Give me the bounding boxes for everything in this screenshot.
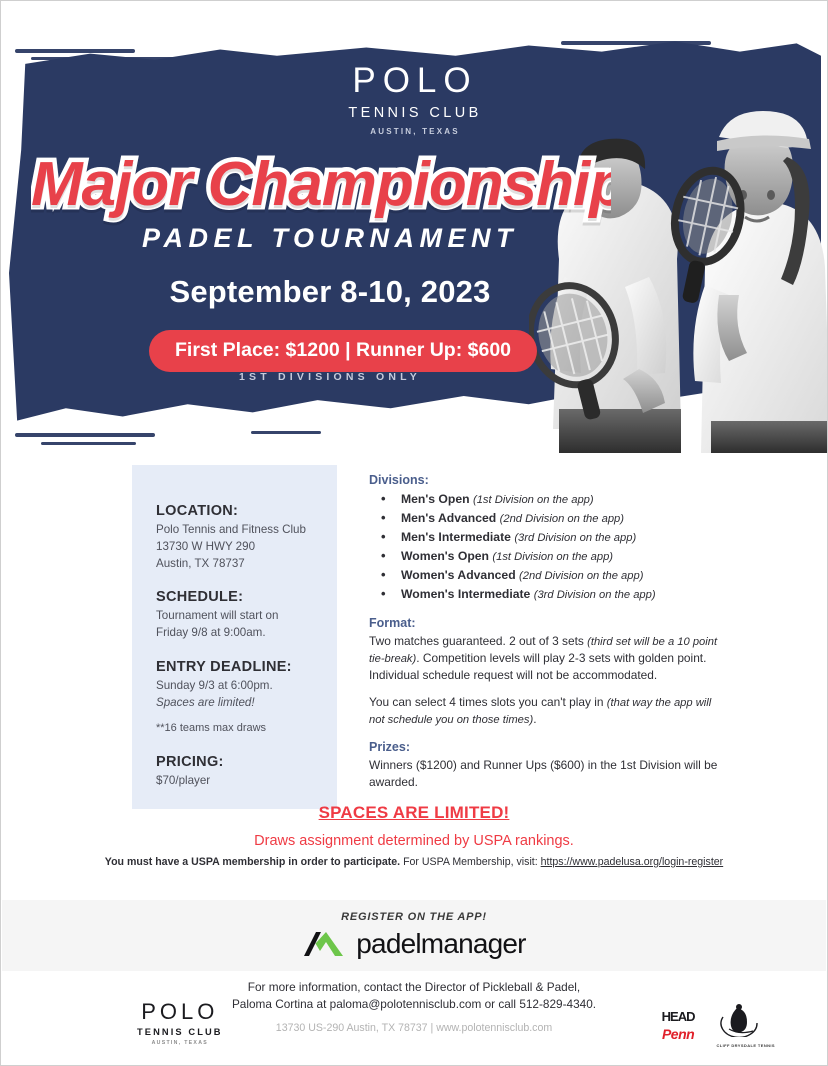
list-item: Men's Intermediate (3rd Division on the … — [369, 528, 719, 547]
format-section: Format: Two matches guaranteed. 2 out of… — [369, 616, 719, 728]
pricing-group: PRICING: $70/player — [156, 754, 315, 790]
pricing-line: $70/player — [156, 773, 315, 790]
register-prompt: REGISTER ON THE APP! — [341, 911, 487, 923]
footer-logo-city: AUSTIN, TEXAS — [137, 1040, 223, 1046]
hero-banner: POLO TENNIS CLUB AUSTIN, TEXAS Major Cha… — [1, 1, 828, 453]
hero-club-logo: POLO TENNIS CLUB AUSTIN, TEXAS — [1, 63, 828, 136]
division-name: Men's Intermediate — [401, 530, 511, 544]
format-p2-b: . — [533, 712, 536, 726]
event-date: September 8-10, 2023 — [1, 274, 828, 310]
division-name: Women's Advanced — [401, 568, 516, 582]
cliff-drysdale-mark-icon — [717, 1003, 763, 1037]
event-subtitle: PADEL TOURNAMENT — [1, 223, 828, 254]
spaces-limited-headline: SPACES ARE LIMITED! — [1, 803, 827, 823]
deadline-heading: ENTRY DEADLINE: — [156, 659, 315, 675]
format-p1-a: Two matches guaranteed. 2 out of 3 sets — [369, 634, 587, 648]
division-note: (1st Division on the app) — [473, 494, 594, 506]
divisions-heading: Divisions: — [369, 473, 719, 487]
flyer-page: POLO TENNIS CLUB AUSTIN, TEXAS Major Cha… — [0, 0, 828, 1066]
division-name: Men's Advanced — [401, 511, 496, 525]
prizes-text: Winners ($1200) and Runner Ups ($600) in… — [369, 757, 719, 791]
uspa-bold-text: You must have a USPA membership in order… — [105, 856, 400, 868]
division-note: (2nd Division on the app) — [500, 513, 624, 525]
padelmanager-wordmark: padelmanager — [356, 928, 525, 960]
details-column: Divisions: Men's Open (1st Division on t… — [369, 473, 719, 791]
schedule-group: SCHEDULE: Tournament will start on Frida… — [156, 589, 315, 642]
brush-streak-icon — [561, 41, 711, 45]
location-line-2: 13730 W HWY 290 — [156, 539, 315, 556]
info-box: LOCATION: Polo Tennis and Fitness Club 1… — [132, 465, 337, 809]
brush-streak-icon — [41, 442, 136, 445]
format-paragraph-2: You can select 4 times slots you can't p… — [369, 694, 719, 728]
divisions-list: Men's Open (1st Division on the app) Men… — [369, 490, 719, 604]
schedule-heading: SCHEDULE: — [156, 589, 315, 605]
sponsor-logos: HEAD Penn CLIFF DRYSDALE TENNIS — [662, 1003, 775, 1048]
location-heading: LOCATION: — [156, 503, 315, 519]
brush-streak-icon — [601, 53, 721, 56]
format-p2-a: You can select 4 times slots you can't p… — [369, 695, 607, 709]
spaces-limited-block: SPACES ARE LIMITED! Draws assignment det… — [1, 803, 827, 849]
location-group: LOCATION: Polo Tennis and Fitness Club 1… — [156, 503, 315, 572]
padelmanager-mark-icon — [302, 929, 346, 959]
head-wordmark: HEAD — [662, 1009, 695, 1024]
padelmanager-logo[interactable]: padelmanager — [302, 928, 525, 960]
division-name: Women's Open — [401, 549, 489, 563]
footer-club-logo: POLO TENNIS CLUB AUSTIN, TEXAS — [137, 1001, 223, 1046]
draws-assignment-note: Draws assignment determined by USPA rank… — [1, 833, 827, 849]
footer-logo-name: POLO — [137, 1001, 223, 1023]
cliff-drysdale-logo: CLIFF DRYSDALE TENNIS — [717, 1003, 775, 1048]
list-item: Men's Advanced (2nd Division on the app) — [369, 509, 719, 528]
uspa-rest-text: For USPA Membership, visit: — [400, 856, 541, 868]
prizes-section: Prizes: Winners ($1200) and Runner Ups (… — [369, 740, 719, 791]
format-heading: Format: — [369, 616, 719, 630]
list-item: Women's Intermediate (3rd Division on th… — [369, 585, 719, 604]
deadline-italic-note: Spaces are limited! — [156, 695, 315, 712]
club-logo-name: POLO — [1, 63, 828, 98]
list-item: Women's Open (1st Division on the app) — [369, 547, 719, 566]
location-line-3: Austin, TX 78737 — [156, 556, 315, 573]
contact-line-1: For more information, contact the Direct… — [1, 979, 827, 996]
list-item: Men's Open (1st Division on the app) — [369, 490, 719, 509]
division-note: (2nd Division on the app) — [519, 570, 643, 582]
division-note: (3rd Division on the app) — [514, 532, 636, 544]
location-line-1: Polo Tennis and Fitness Club — [156, 522, 315, 539]
pricing-heading: PRICING: — [156, 754, 315, 770]
division-note: (1st Division on the app) — [492, 551, 613, 563]
cliff-drysdale-caption: CLIFF DRYSDALE TENNIS — [717, 1043, 775, 1048]
head-penn-logo: HEAD Penn — [662, 1009, 695, 1042]
divisions-only-note: 1ST DIVISIONS ONLY — [1, 371, 828, 383]
format-p1-b: . Competition levels will play 2-3 sets … — [369, 651, 706, 682]
deadline-line: Sunday 9/3 at 6:00pm. — [156, 678, 315, 695]
division-name: Women's Intermediate — [401, 587, 530, 601]
register-band: REGISTER ON THE APP! padelmanager — [2, 900, 826, 971]
club-logo-city: AUSTIN, TEXAS — [1, 127, 828, 136]
brush-streak-icon — [15, 49, 135, 53]
brush-streak-icon — [251, 431, 321, 434]
list-item: Women's Advanced (2nd Division on the ap… — [369, 566, 719, 585]
footer-logo-sub: TENNIS CLUB — [137, 1027, 223, 1037]
division-note: (3rd Division on the app) — [534, 589, 656, 601]
brush-streak-icon — [15, 433, 155, 437]
uspa-membership-link[interactable]: https://www.padelusa.org/login-register — [541, 856, 724, 868]
prizes-heading: Prizes: — [369, 740, 719, 754]
uspa-membership-line: You must have a USPA membership in order… — [1, 856, 827, 868]
schedule-line-1: Tournament will start on — [156, 608, 315, 625]
division-name: Men's Open — [401, 492, 470, 506]
format-paragraph-1: Two matches guaranteed. 2 out of 3 sets … — [369, 633, 719, 684]
svg-text:Major Championship: Major Championship — [31, 150, 611, 219]
prize-badge: First Place: $1200 | Runner Up: $600 — [149, 330, 537, 372]
brush-streak-icon — [31, 57, 221, 60]
deadline-max-draws: **16 teams max draws — [156, 721, 315, 737]
club-logo-sub: TENNIS CLUB — [1, 105, 828, 121]
penn-wordmark: Penn — [662, 1026, 695, 1042]
deadline-group: ENTRY DEADLINE: Sunday 9/3 at 6:00pm. Sp… — [156, 659, 315, 737]
schedule-line-2: Friday 9/8 at 9:00am. — [156, 625, 315, 642]
